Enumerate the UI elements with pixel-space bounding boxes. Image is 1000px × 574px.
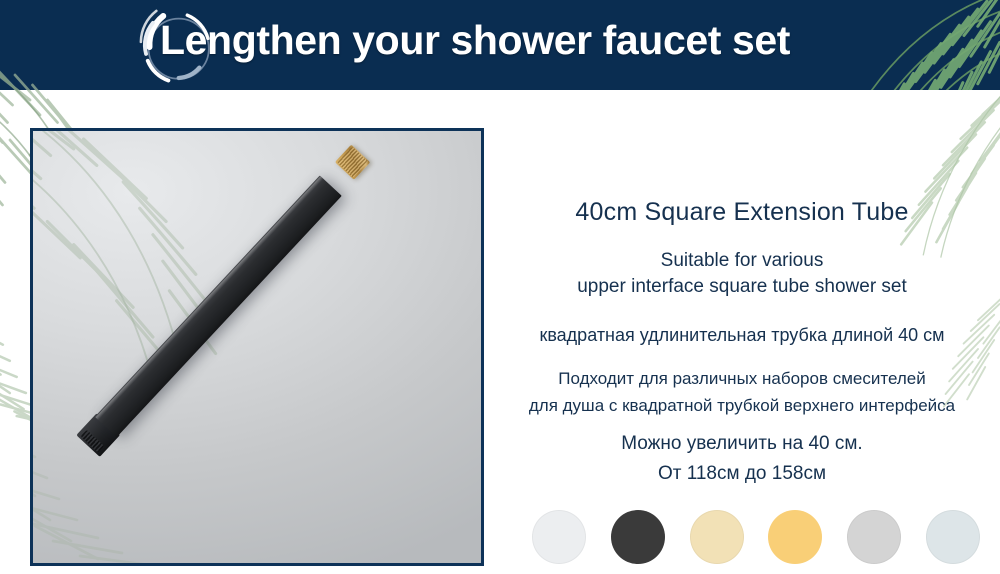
swatch-pale-blue[interactable]	[926, 510, 980, 564]
ru-text-line-2: Подходит для различных наборов смесителе…	[484, 365, 1000, 392]
subtext-line-2: upper interface square tube shower set	[484, 274, 1000, 300]
subtext-line-1: Suitable for various	[484, 248, 1000, 274]
tube-square-body	[95, 175, 342, 437]
page-title: Lengthen your shower faucet set	[160, 17, 920, 64]
copy-block: 40cm Square Extension Tube Suitable for …	[484, 128, 1000, 508]
product-headline: 40cm Square Extension Tube	[484, 198, 1000, 227]
swatch-cream[interactable]	[690, 510, 744, 564]
ru-text-line-1: квадратная удлинительная трубка длиной 4…	[484, 325, 1000, 346]
header-band: Lengthen your shower faucet set	[0, 0, 1000, 90]
ru-text-line-5: От 118см до 158см	[484, 459, 1000, 489]
product-photo	[30, 128, 484, 566]
extension-tube-illustration	[33, 131, 481, 563]
ru-text-line-3: для душа с квадратной трубкой верхнего и…	[484, 392, 1000, 419]
swatch-light-grey[interactable]	[847, 510, 901, 564]
tube-brass-connector	[335, 145, 370, 180]
swatch-matte-black[interactable]	[611, 510, 665, 564]
swatch-white[interactable]	[532, 510, 586, 564]
ru-text-line-4: Можно увеличить на 40 см.	[484, 429, 1000, 459]
ru-text-block-3: Можно увеличить на 40 см. От 118см до 15…	[484, 429, 1000, 489]
ru-text-block-2: Подходит для различных наборов смесителе…	[484, 365, 1000, 419]
swatch-gold[interactable]	[768, 510, 822, 564]
promo-banner: Lengthen your shower faucet set	[0, 0, 1000, 574]
color-swatch-row	[516, 506, 996, 568]
product-subtext: Suitable for various upper interface squ…	[484, 248, 1000, 300]
